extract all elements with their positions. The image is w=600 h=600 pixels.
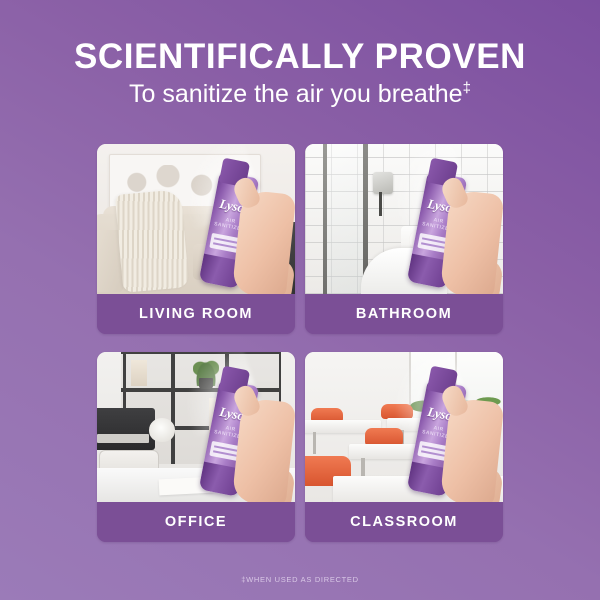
spray-can-icon: Lysol AIR SANITIZER xyxy=(195,158,287,294)
office-photo: Lysol AIR SANITIZER xyxy=(97,352,295,502)
footnote: ‡WHEN USED AS DIRECTED xyxy=(0,575,600,584)
scene-card-bathroom[interactable]: Lysol AIR SANITIZER BATHROOM xyxy=(305,144,503,334)
living-room-photo: Lysol AIR SANITIZER xyxy=(97,144,295,294)
subtitle-text: To sanitize the air you breathe xyxy=(129,80,463,108)
card-label-office: OFFICE xyxy=(97,502,295,542)
scene-card-grid: Lysol AIR SANITIZER LIVING ROOM xyxy=(97,144,503,542)
card-label-text: BATHROOM xyxy=(356,306,452,322)
shower-frame-left xyxy=(323,144,327,294)
spray-can-icon: Lysol AIR SANITIZER xyxy=(403,158,495,294)
page-title: SCIENTIFICALLY PROVEN xyxy=(0,38,600,75)
desk-leg xyxy=(313,432,316,454)
shelf-box xyxy=(131,360,147,386)
printer-icon xyxy=(97,408,155,450)
poster-header: SCIENTIFICALLY PROVEN To sanitize the ai… xyxy=(0,38,600,109)
bathroom-photo: Lysol AIR SANITIZER xyxy=(305,144,503,294)
throw-blanket xyxy=(115,189,189,292)
scene-card-classroom[interactable]: Lysol AIR SANITIZER CLASSROOM xyxy=(305,352,503,542)
subtitle-footnote-marker: ‡ xyxy=(463,80,471,97)
page-subtitle: To sanitize the air you breathe‡ xyxy=(0,81,600,109)
card-label-text: OFFICE xyxy=(165,514,227,530)
scene-card-living-room[interactable]: Lysol AIR SANITIZER LIVING ROOM xyxy=(97,144,295,334)
classroom-photo: Lysol AIR SANITIZER xyxy=(305,352,503,502)
card-label-text: CLASSROOM xyxy=(350,514,458,530)
desk-lamp-icon xyxy=(149,418,175,442)
shower-glass-pane xyxy=(327,144,363,294)
card-label-bathroom: BATHROOM xyxy=(305,294,503,334)
card-label-living-room: LIVING ROOM xyxy=(97,294,295,334)
card-label-classroom: CLASSROOM xyxy=(305,502,503,542)
promotional-poster: SCIENTIFICALLY PROVEN To sanitize the ai… xyxy=(0,0,600,600)
card-label-text: LIVING ROOM xyxy=(139,306,253,322)
scene-card-office[interactable]: Lysol AIR SANITIZER OFFICE xyxy=(97,352,295,542)
spray-can-icon: Lysol AIR SANITIZER xyxy=(403,366,495,502)
spray-can-icon: Lysol AIR SANITIZER xyxy=(195,366,287,502)
